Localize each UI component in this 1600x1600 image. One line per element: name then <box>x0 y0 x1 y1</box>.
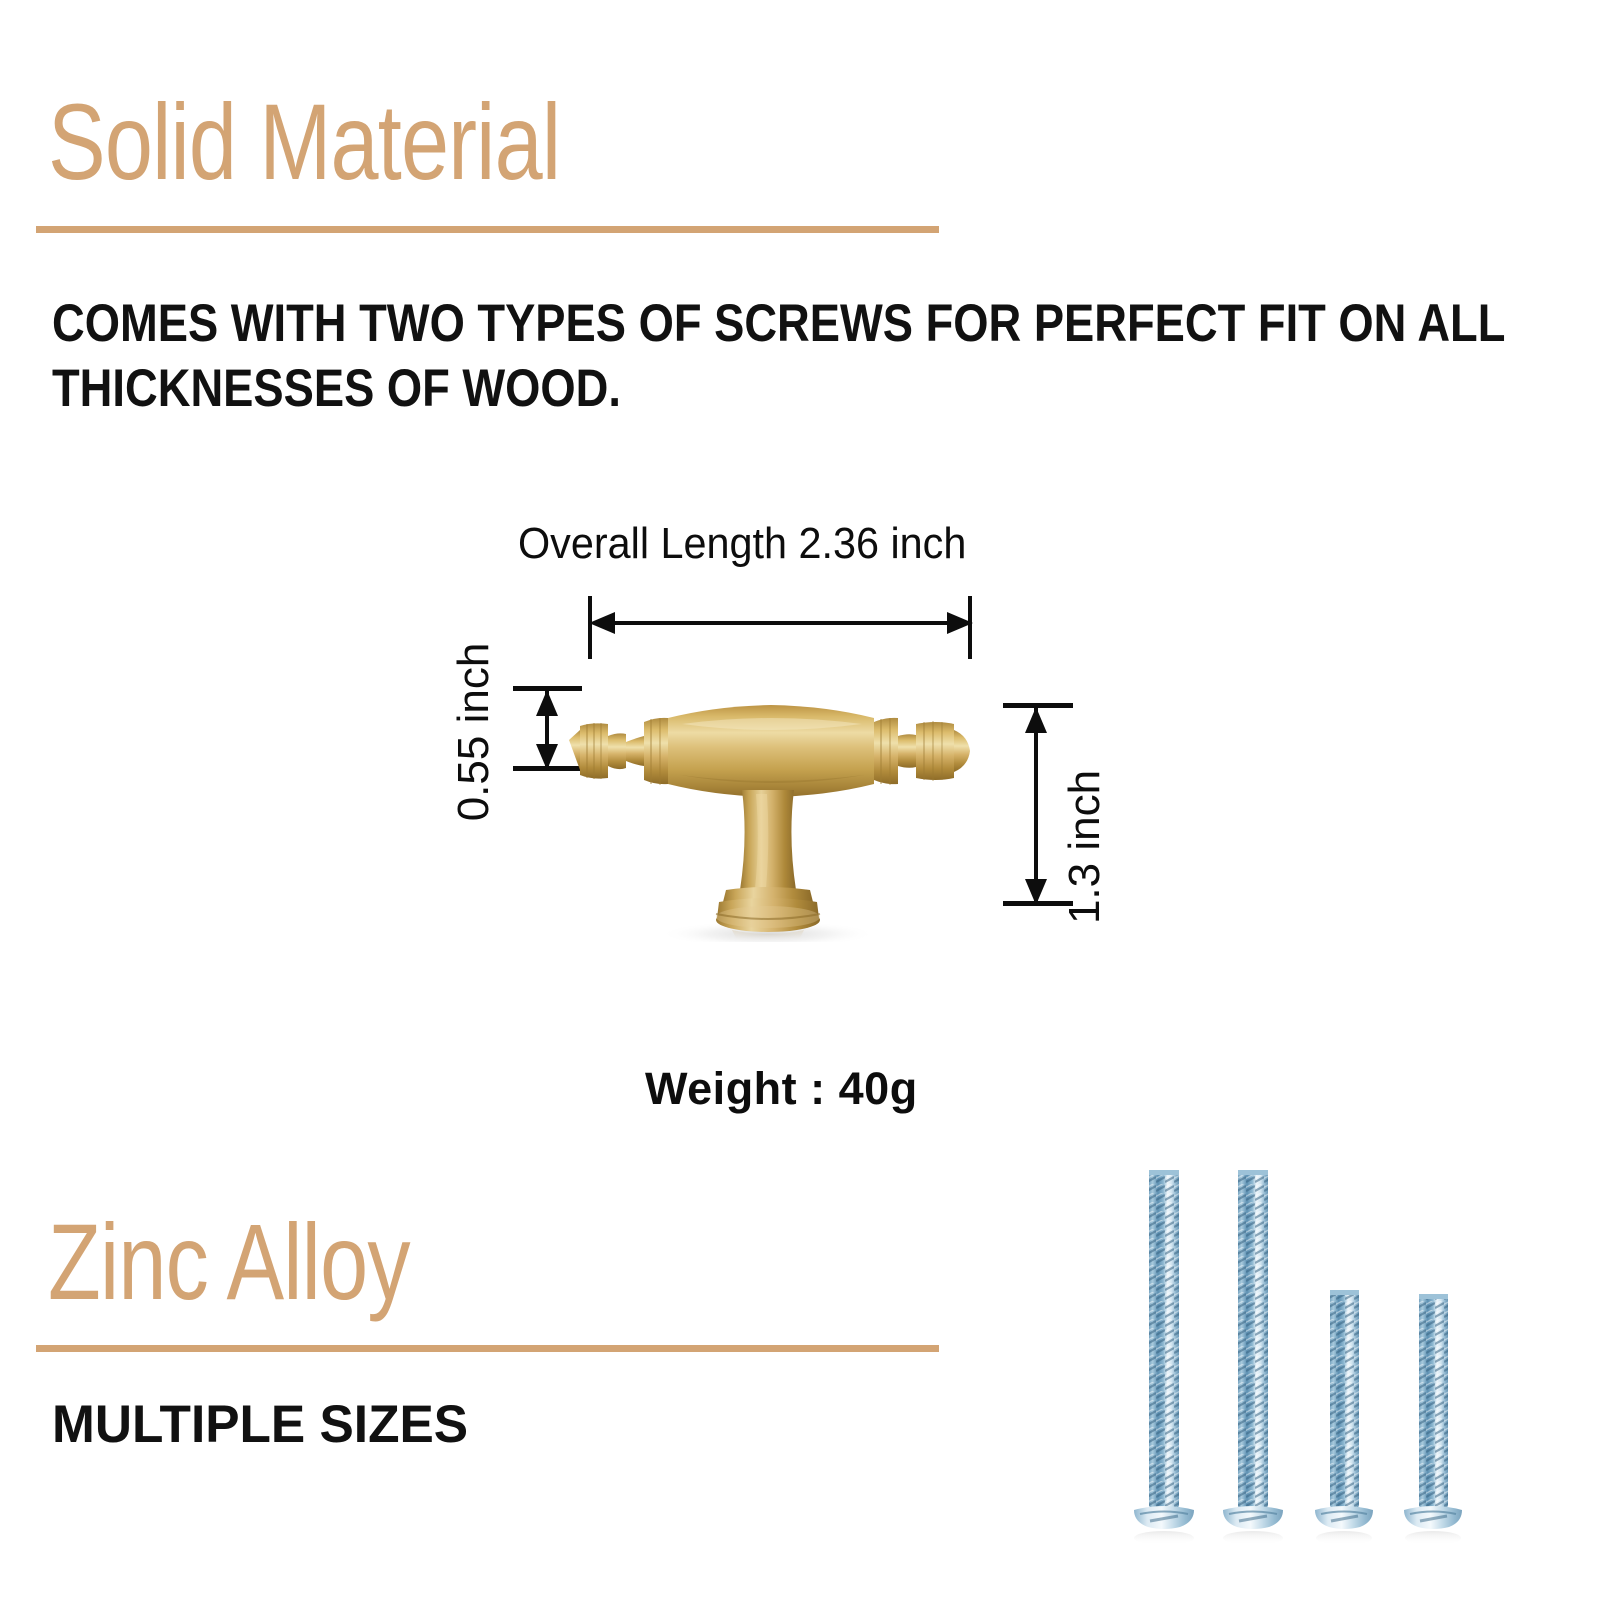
knob-barrel <box>668 705 874 797</box>
knob-right-finial <box>874 718 970 785</box>
arrow-down-icon <box>1025 879 1047 905</box>
section-divider-zinc-alloy <box>36 1345 939 1352</box>
knob-left-finial <box>569 718 668 785</box>
screw-long-2 <box>1223 1170 1283 1545</box>
dimension-line-overall-length <box>596 621 964 625</box>
section-title-solid-material: Solid Material <box>48 88 560 196</box>
knob-base-plate <box>716 887 820 932</box>
section-divider-solid-material <box>36 226 939 233</box>
section-body-zinc-alloy: MULTIPLE SIZES <box>52 1393 468 1458</box>
dimension-line-projection-height <box>1034 708 1038 904</box>
arrow-right-icon <box>947 612 973 634</box>
arrow-left-icon <box>589 612 615 634</box>
dimension-label-projection-height: 1.3 inch <box>1062 762 1108 932</box>
screw-long-1 <box>1134 1170 1194 1545</box>
arrow-up-icon <box>536 690 558 716</box>
dimension-label-knob-diameter: 0.55 inch <box>452 632 496 832</box>
section-body-solid-material: COMES WITH TWO TYPES OF SCREWS FOR PERFE… <box>52 292 1548 421</box>
arrow-up-icon <box>1025 707 1047 733</box>
dimension-label-knob-diameter-text: 0.55 inch <box>449 643 499 822</box>
product-image-brass-t-bar-knob <box>556 662 986 942</box>
product-image-machine-screws <box>1120 1130 1480 1550</box>
section-title-zinc-alloy: Zinc Alloy <box>48 1208 410 1316</box>
screw-short-2 <box>1404 1294 1462 1545</box>
dimension-label-overall-length: Overall Length 2.36 inch <box>518 522 966 566</box>
knob-stem <box>740 790 796 890</box>
arrow-down-icon <box>536 744 558 770</box>
infographic-page: Solid Material COMES WITH TWO TYPES OF S… <box>0 0 1600 1600</box>
screw-short-1 <box>1315 1290 1373 1545</box>
weight-caption: Weight : 40g <box>645 1063 918 1115</box>
